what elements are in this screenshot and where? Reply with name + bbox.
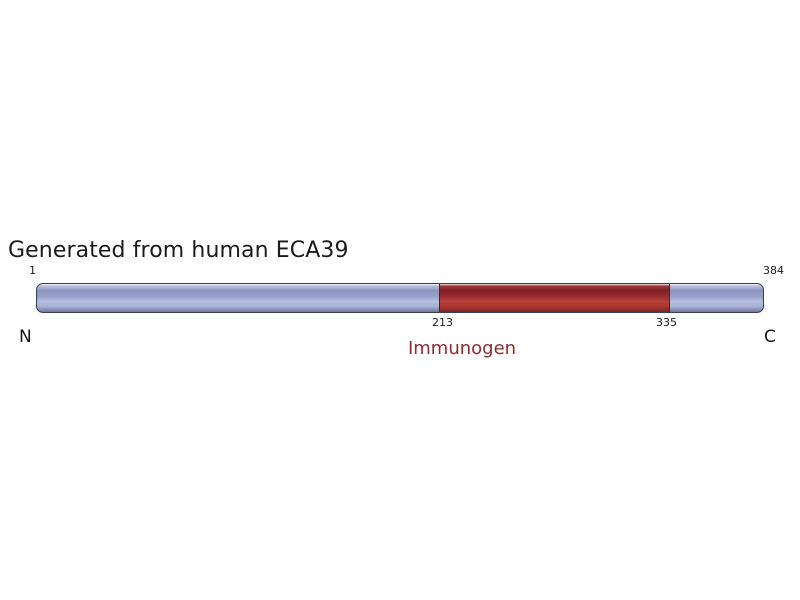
immunogen-region — [439, 284, 670, 312]
protein-domain-diagram: Generated from human ECA39 1 384 213 335… — [0, 0, 800, 600]
protein-track — [36, 283, 764, 313]
immunogen-caption: Immunogen — [62, 338, 800, 360]
n-terminus-label: N — [19, 327, 32, 347]
residue-tick-start: 1 — [29, 264, 36, 277]
page-title: Generated from human ECA39 — [8, 238, 349, 264]
residue-tick-immunogen-start: 213 — [432, 316, 453, 329]
residue-tick-end: 384 — [763, 264, 784, 277]
residue-tick-immunogen-end: 335 — [656, 316, 677, 329]
